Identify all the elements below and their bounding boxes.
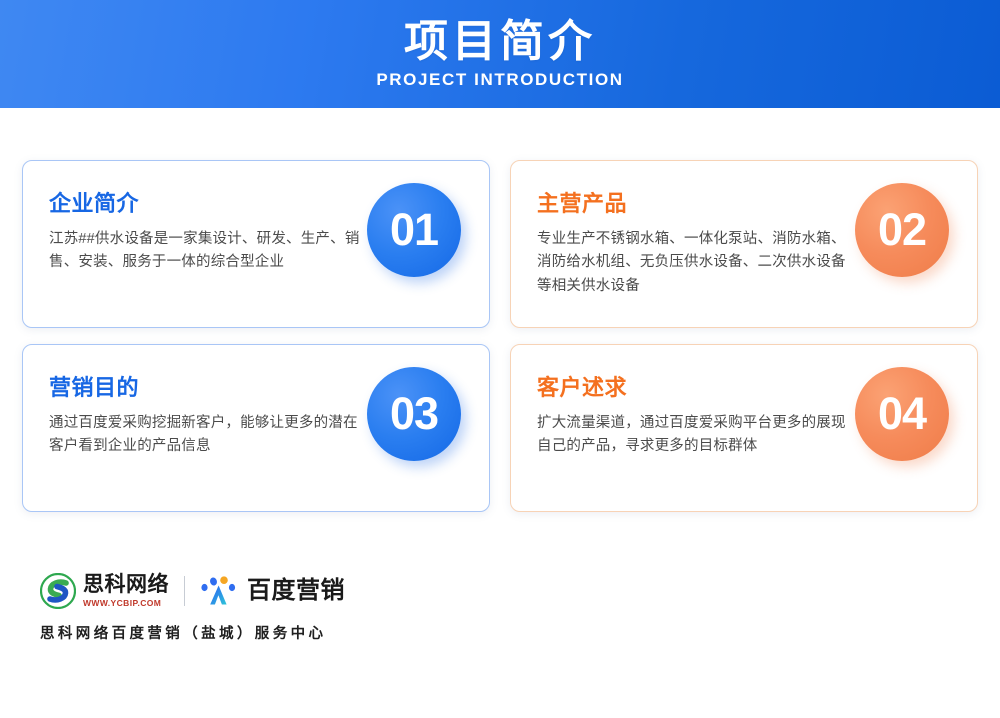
baidu-brand-name: 百度营销 — [247, 579, 345, 603]
info-card-customer-demand: 客户述求 扩大流量渠道，通过百度爱采购平台更多的展现自己的产品，寻求更多的目标群… — [510, 344, 978, 512]
card-number-badge: 01 — [367, 183, 461, 277]
info-card-company-profile: 企业简介 江苏##供水设备是一家集设计、研发、生产、销售、安装、服务于一体的综合… — [22, 160, 490, 328]
card-number-badge: 02 — [855, 183, 949, 277]
card-body-text: 江苏##供水设备是一家集设计、研发、生产、销售、安装、服务于一体的综合型企业 — [49, 228, 367, 275]
sike-website-url: WWW.YCBIP.COM — [83, 598, 169, 608]
card-body-text: 扩大流量渠道，通过百度爱采购平台更多的展现自己的产品，寻求更多的目标群体 — [537, 412, 855, 459]
info-card-main-products: 主营产品 专业生产不锈钢水箱、一体化泵站、消防水箱、消防给水机组、无负压供水设备… — [510, 160, 978, 328]
sike-logo-text: 思科网络 WWW.YCBIP.COM — [83, 574, 169, 607]
baidu-marketing-logo-icon — [200, 575, 240, 607]
page-footer: 思科网络 WWW.YCBIP.COM — [0, 570, 1000, 643]
sike-network-logo: 思科网络 WWW.YCBIP.COM — [40, 573, 169, 609]
page-subtitle: PROJECT INTRODUCTION — [376, 70, 623, 90]
baidu-marketing-logo: 百度营销 — [200, 575, 345, 607]
logo-divider — [184, 576, 185, 606]
footer-tagline: 思科网络百度营销（盐城）服务中心 — [40, 622, 1000, 643]
card-number-badge: 04 — [855, 367, 949, 461]
card-body-text: 通过百度爱采购挖掘新客户，能够让更多的潜在客户看到企业的产品信息 — [49, 412, 367, 459]
footer-logo-row: 思科网络 WWW.YCBIP.COM — [40, 570, 1000, 612]
info-card-marketing-purpose: 营销目的 通过百度爱采购挖掘新客户，能够让更多的潜在客户看到企业的产品信息 03 — [22, 344, 490, 512]
card-number-badge: 03 — [367, 367, 461, 461]
page-title: 项目简介 — [404, 18, 596, 66]
card-body-text: 专业生产不锈钢水箱、一体化泵站、消防水箱、消防给水机组、无负压供水设备、二次供水… — [537, 228, 855, 298]
sike-brand-name: 思科网络 — [83, 574, 169, 596]
info-cards-grid: 企业简介 江苏##供水设备是一家集设计、研发、生产、销售、安装、服务于一体的综合… — [0, 108, 1000, 512]
sike-swirl-logo-icon — [40, 573, 76, 609]
page-header-banner: 项目简介 PROJECT INTRODUCTION — [0, 0, 1000, 108]
